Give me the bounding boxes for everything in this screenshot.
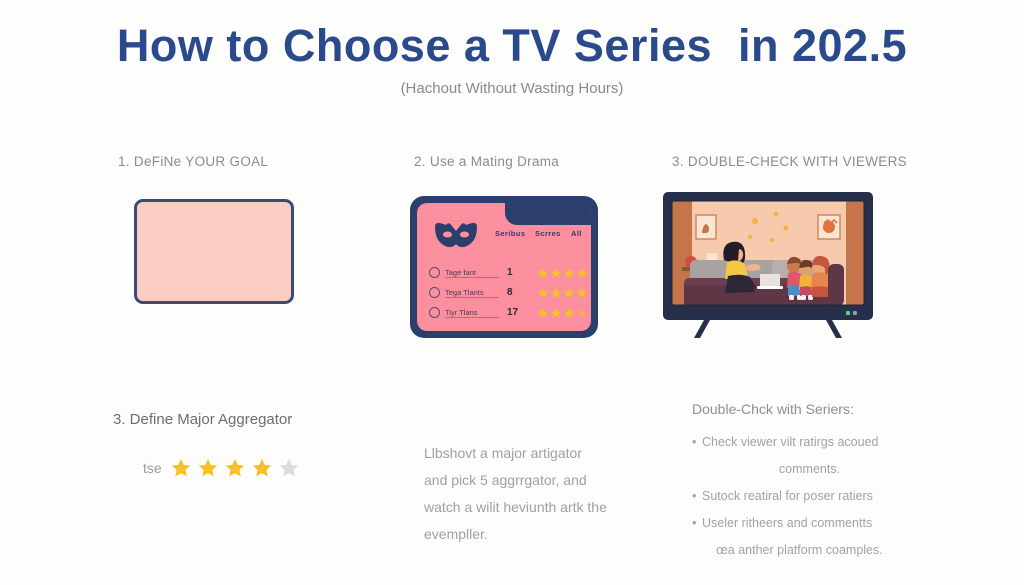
row-badge-icon — [429, 287, 440, 298]
star-icon — [563, 307, 575, 319]
star-icon — [563, 267, 575, 279]
star-icon[interactable] — [197, 457, 219, 479]
ratings-row-count: 1 — [499, 267, 537, 278]
bullet-icon: • — [692, 514, 702, 533]
list-item-text: Check viewer vilt ratirgs acoued — [702, 433, 917, 452]
checklist: Double-Chck with Seriers: • Check viewer… — [692, 401, 917, 568]
list-item[interactable]: • Useler ritheers and commentts — [692, 514, 917, 533]
ratings-row-stars — [537, 307, 588, 319]
star-icon — [550, 267, 562, 279]
star-icon — [537, 287, 549, 299]
page-subtitle: (Hachout Without Wasting Hours) — [0, 72, 1024, 97]
ratings-row-count: 17 — [499, 307, 537, 318]
bullet-icon: • — [692, 487, 702, 506]
mask-icon — [433, 221, 479, 249]
star-icon[interactable] — [251, 457, 273, 479]
ratings-card-body: Seribus Scrres All Tage fant 1 Tega Tlan… — [417, 203, 591, 331]
list-item-continuation: œa anther platform coamples. — [692, 541, 917, 560]
checklist-title: Double-Chck with Seriers: — [692, 401, 917, 417]
star-icon-empty[interactable] — [278, 457, 300, 479]
row-badge-icon — [429, 267, 440, 278]
ratings-card: Seribus Scrres All Tage fant 1 Tega Tlan… — [410, 196, 598, 338]
star-icon[interactable] — [170, 457, 192, 479]
ratings-row-count: 8 — [499, 287, 537, 298]
row-badge-icon — [429, 307, 440, 318]
ratings-row-label: Tage fant — [445, 268, 499, 278]
star-icon[interactable] — [224, 457, 246, 479]
ratings-row[interactable]: Tiyr Tlans 17 — [429, 305, 591, 320]
list-item-subtext: œa anther platform coamples. — [702, 541, 917, 560]
step-header-double-check: 3. DOUBLE-CHECK WITH VIEWERS — [672, 154, 907, 169]
page-header: How to Choose a TV Series in 202.5 (Hach… — [0, 0, 1024, 97]
star-icon — [576, 307, 588, 319]
list-item[interactable]: • Check viewer vilt ratirgs acoued — [692, 433, 917, 452]
aggregator-rating[interactable]: tse — [143, 457, 300, 479]
ratings-row-label: Tega Tlants — [445, 288, 499, 298]
page-title: How to Choose a TV Series in 202.5 — [0, 0, 1024, 72]
step-header-define-goal: 1. DeFiNe YOUR GOAL — [118, 154, 268, 169]
ratings-row-label: Tiyr Tlans — [445, 308, 499, 318]
star-icon — [550, 287, 562, 299]
ratings-card-tab — [505, 203, 591, 225]
ratings-column-header-2: All — [571, 229, 587, 238]
list-item-subtext: comments. — [702, 460, 917, 479]
aggregator-title: 3. Define Major Aggregator — [113, 411, 292, 428]
aggregator-rating-label: tse — [143, 460, 162, 476]
star-icon — [576, 287, 588, 299]
ratings-row[interactable]: Tega Tlants 8 — [429, 285, 591, 300]
star-icon — [576, 267, 588, 279]
bullet-spacer — [692, 541, 702, 560]
star-icon — [550, 307, 562, 319]
list-item-text: Useler ritheers and commentts — [702, 514, 917, 533]
ratings-row-stars — [537, 287, 588, 299]
star-icon — [537, 307, 549, 319]
goal-placeholder-card — [134, 199, 294, 304]
ratings-column-headers: Seribus Scrres All — [495, 229, 591, 238]
list-item-continuation: comments. — [692, 460, 917, 479]
star-icon — [537, 267, 549, 279]
list-item[interactable]: • Sutock reatiral for poser ratiers — [692, 487, 917, 506]
star-icon — [563, 287, 575, 299]
aggregator-description: Llbshovt a major artigator and pick 5 ag… — [424, 440, 609, 548]
bullet-icon: • — [692, 433, 702, 452]
bullet-spacer — [692, 460, 702, 479]
list-item-text: Sutock reatiral for poser ratiers — [702, 487, 917, 506]
ratings-row-stars — [537, 267, 588, 279]
ratings-column-header-0: Seribus — [495, 229, 529, 238]
step-header-use-drama: 2. Use a Mating Drama — [414, 154, 559, 169]
tv-illustration — [660, 190, 876, 340]
ratings-column-header-1: Scrres — [535, 229, 565, 238]
ratings-row[interactable]: Tage fant 1 — [429, 265, 591, 280]
